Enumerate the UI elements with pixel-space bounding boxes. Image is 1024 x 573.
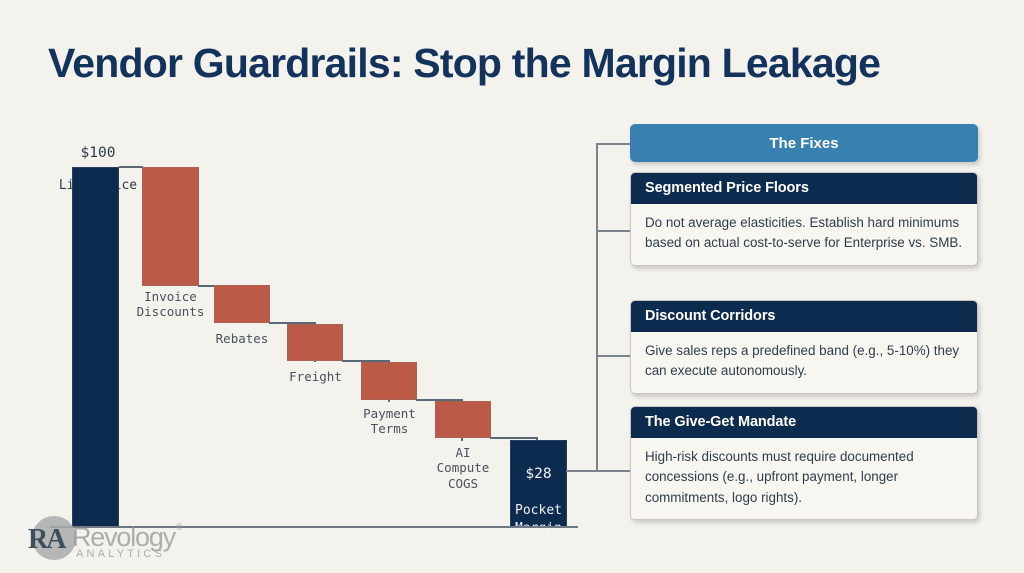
- bar-list-price: [72, 167, 119, 527]
- margin-waterfall-chart: $100 List Price Invoice Discounts Rebate…: [0, 0, 600, 573]
- fix-card-3-heading: The Give-Get Mandate: [631, 407, 977, 438]
- logo-monogram: RA: [28, 524, 64, 556]
- fix-card-give-get-mandate[interactable]: The Give-Get Mandate High-risk discounts…: [630, 406, 978, 520]
- fixes-panel-header-label: The Fixes: [769, 135, 838, 152]
- fix-card-2-heading: Discount Corridors: [631, 301, 977, 332]
- logo-registered-mark: ®: [176, 522, 183, 532]
- fix-card-1-body: Do not average elasticities. Establish h…: [631, 204, 977, 265]
- fix-card-segmented-price-floors[interactable]: Segmented Price Floors Do not average el…: [630, 172, 978, 266]
- bar-payment-terms: [361, 362, 417, 400]
- connector-margin-to-trunk: [566, 470, 597, 472]
- bar-label-payment-terms: Payment Terms: [348, 406, 431, 437]
- bar-name-pocket-margin: Pocket Margin: [515, 503, 562, 535]
- logo-tagline: ANALYTICS: [76, 548, 165, 560]
- bar-freight: [287, 324, 343, 361]
- connector-branch-card-2: [596, 355, 631, 357]
- connector-trunk-vertical: [596, 143, 598, 471]
- bar-invoice-discounts: [142, 167, 199, 286]
- slide-canvas: Vendor Guardrails: Stop the Margin Leaka…: [0, 0, 1024, 573]
- bar-amount-pocket-margin: $28: [508, 465, 569, 484]
- connector-branch-card-1: [596, 230, 631, 232]
- fix-card-3-body: High-risk discounts must require documen…: [631, 438, 977, 519]
- connector-ai-compute-cogs-h: [490, 437, 537, 439]
- fix-card-2-body: Give sales reps a predefined band (e.g.,…: [631, 332, 977, 393]
- bar-label-freight: Freight: [280, 369, 351, 384]
- bar-label-rebates: Rebates: [205, 331, 279, 346]
- bar-rebates: [214, 285, 270, 323]
- bar-label-ai-compute-cogs: AI Compute COGS: [425, 445, 501, 491]
- fix-card-discount-corridors[interactable]: Discount Corridors Give sales reps a pre…: [630, 300, 978, 394]
- fix-card-1-heading: Segmented Price Floors: [631, 173, 977, 204]
- connector-branch-card-3: [596, 470, 631, 472]
- connector-branch-fixes-header: [596, 143, 631, 145]
- connector-list-price-to-invoice-discounts: [119, 166, 143, 168]
- bar-amount-list-price: $100: [42, 145, 154, 163]
- bar-label-pocket-margin: $28 Pocket Margin: [508, 448, 569, 537]
- bar-ai-compute-cogs: [435, 401, 491, 438]
- bar-label-invoice-discounts: Invoice Discounts: [128, 289, 213, 320]
- revology-analytics-logo: RA Revology ® ANALYTICS: [8, 512, 188, 562]
- fixes-panel-header: The Fixes: [630, 124, 978, 162]
